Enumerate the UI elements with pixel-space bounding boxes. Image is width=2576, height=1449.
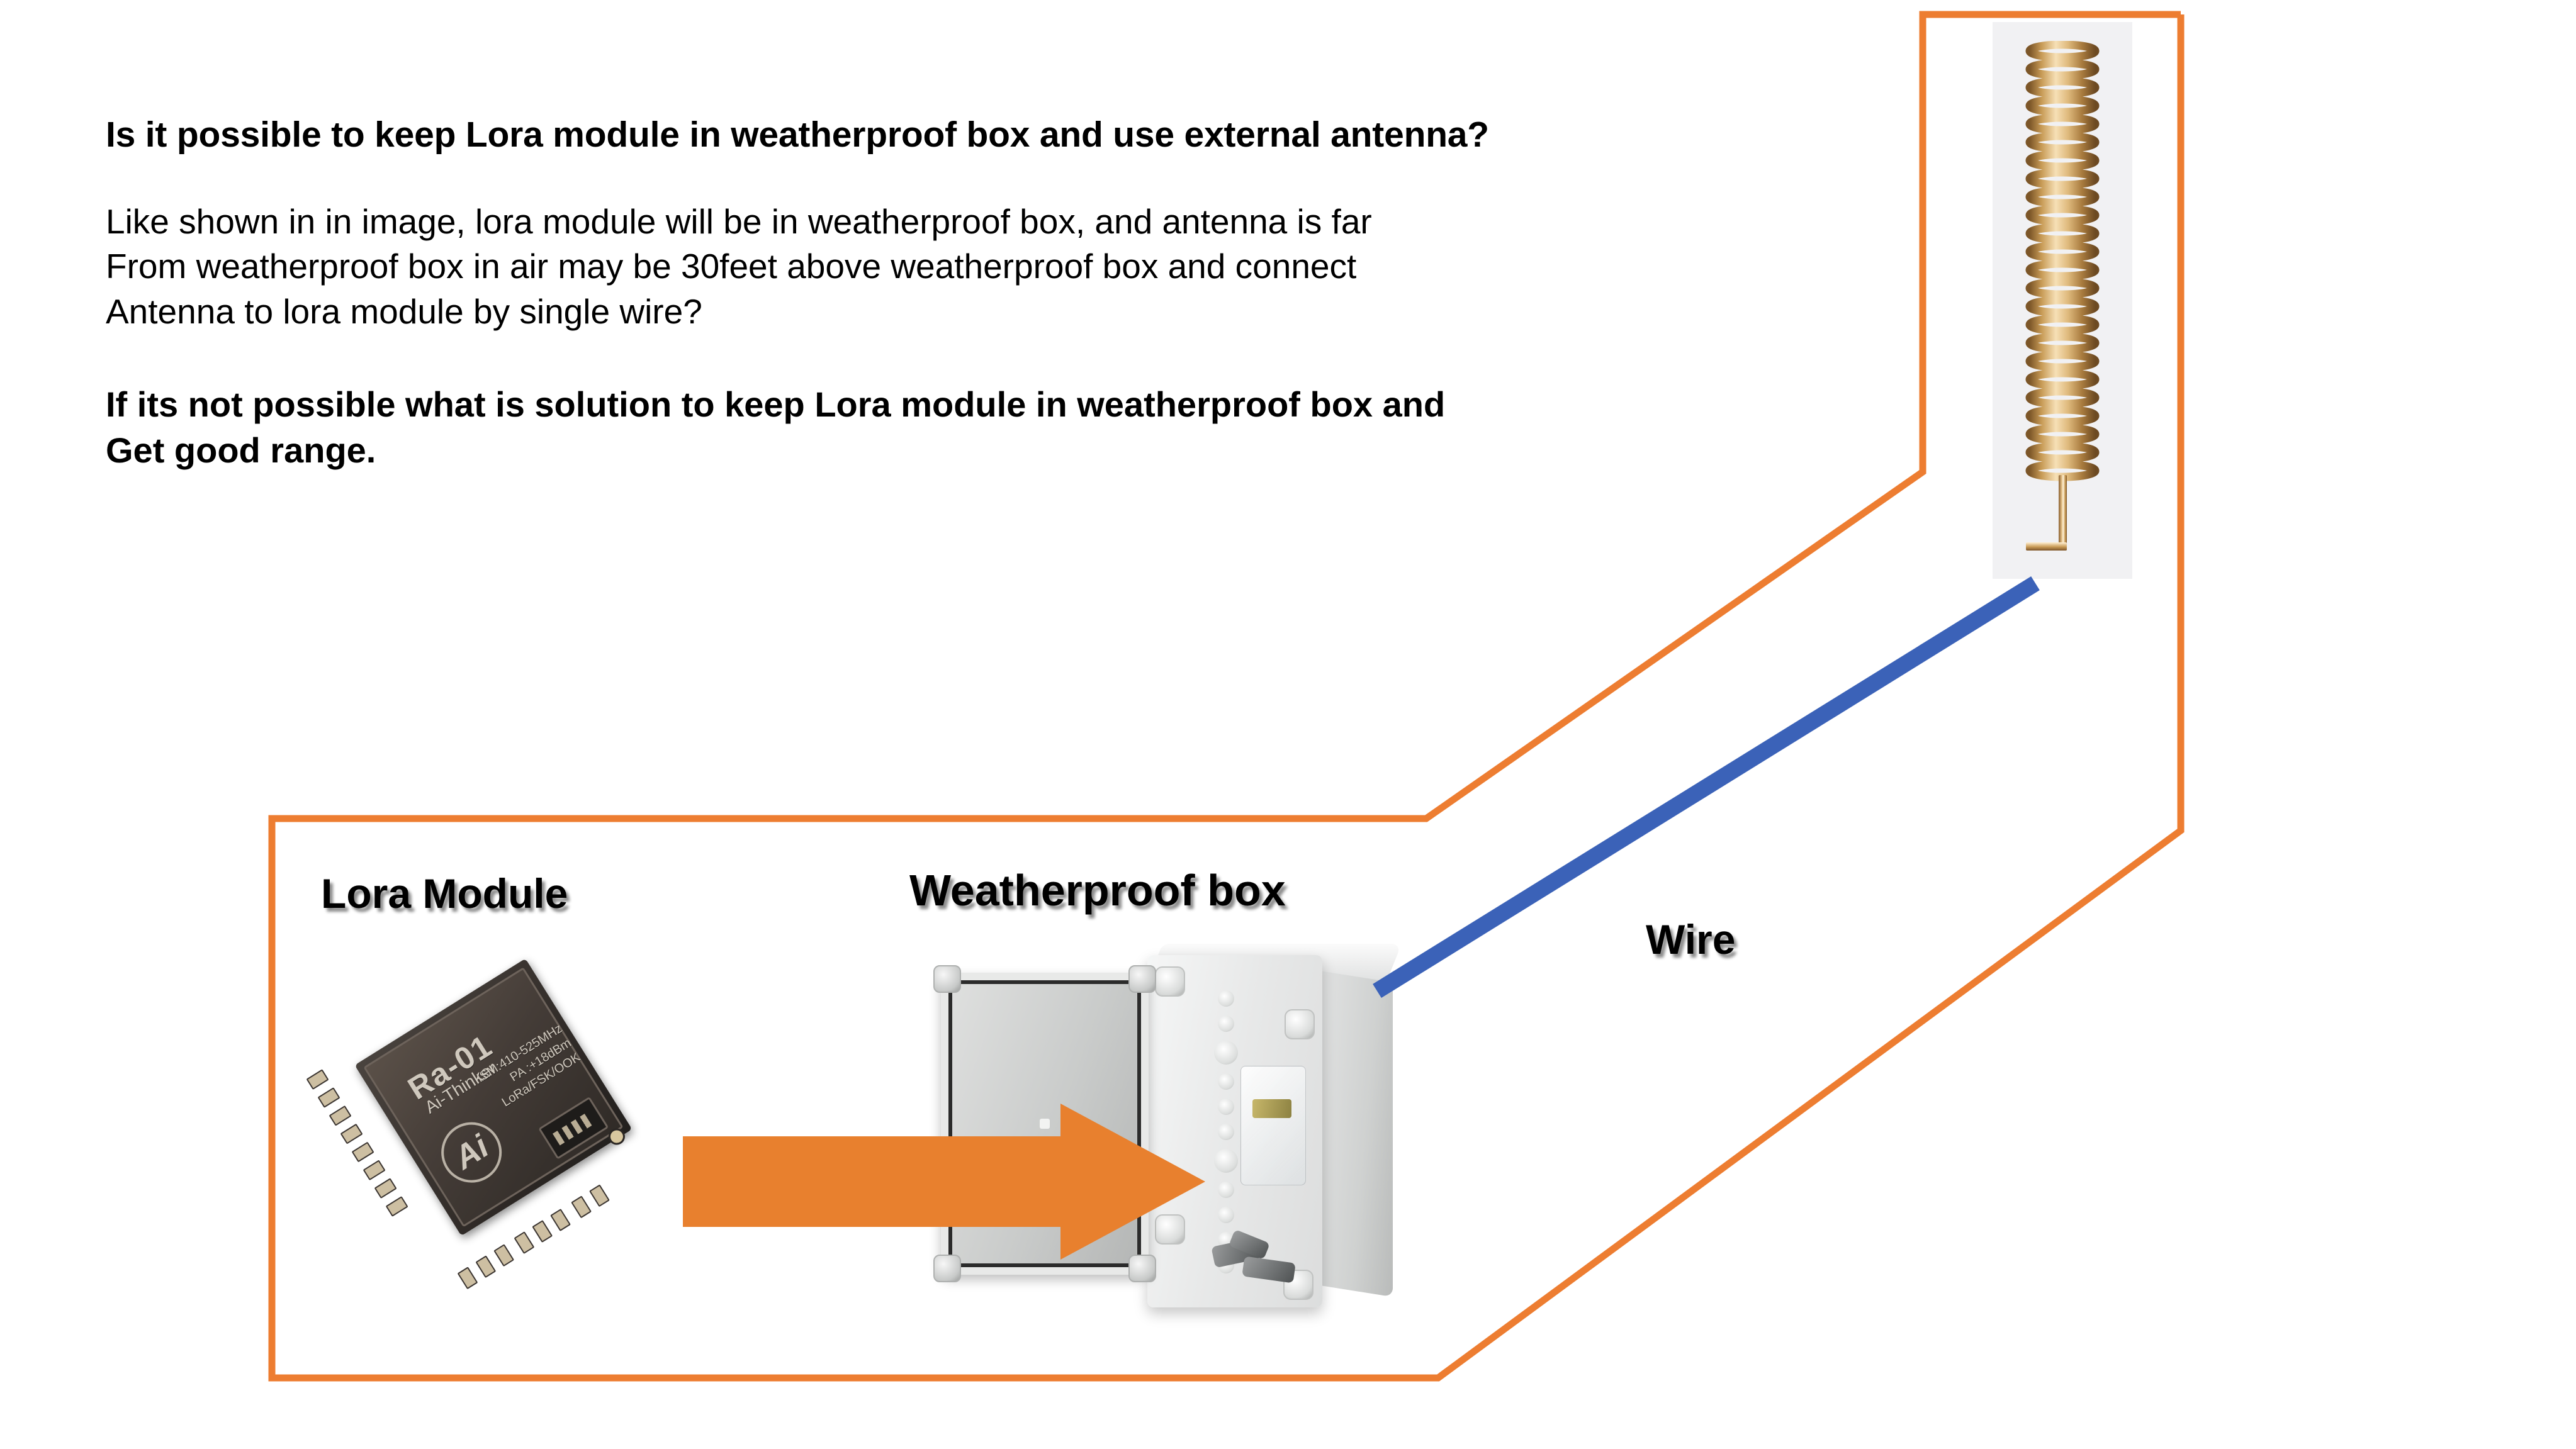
paragraph2-line2: Get good range. — [106, 428, 1818, 474]
paragraph2-line1: If its not possible what is solution to … — [106, 382, 1818, 428]
lora-module-image: Ra-01 Ai-Thinker ISM:410-525MHz PA :+18d… — [312, 922, 677, 1287]
paragraph1-line3: Antenna to lora module by single wire? — [106, 289, 1818, 335]
question-text-block: Is it possible to keep Lora module in we… — [106, 116, 1818, 474]
paragraph1-line1: Like shown in in image, lora module will… — [106, 199, 1818, 245]
question-heading: Is it possible to keep Lora module in we… — [106, 116, 1818, 154]
label-lora-module: Lora Module — [321, 870, 568, 917]
box-cable-glands — [1213, 1227, 1307, 1281]
label-wire: Wire — [1646, 915, 1735, 963]
paragraph1-line2: From weatherproof box in air may be 30fe… — [106, 244, 1818, 289]
label-weatherproof-box: Weatherproof box — [909, 865, 1286, 915]
coil-turns-icon — [2022, 41, 2103, 481]
antenna-lead-icon — [2059, 475, 2067, 551]
box-knockouts — [1218, 990, 1234, 1261]
slide-canvas: Is it possible to keep Lora module in we… — [0, 0, 2576, 1449]
box-side-face — [1319, 971, 1393, 1297]
box-hardware-bag — [1240, 1066, 1306, 1185]
antenna-image — [1993, 22, 2132, 579]
orange-right-arrow — [683, 1100, 1205, 1263]
antenna-coil — [2022, 41, 2103, 481]
